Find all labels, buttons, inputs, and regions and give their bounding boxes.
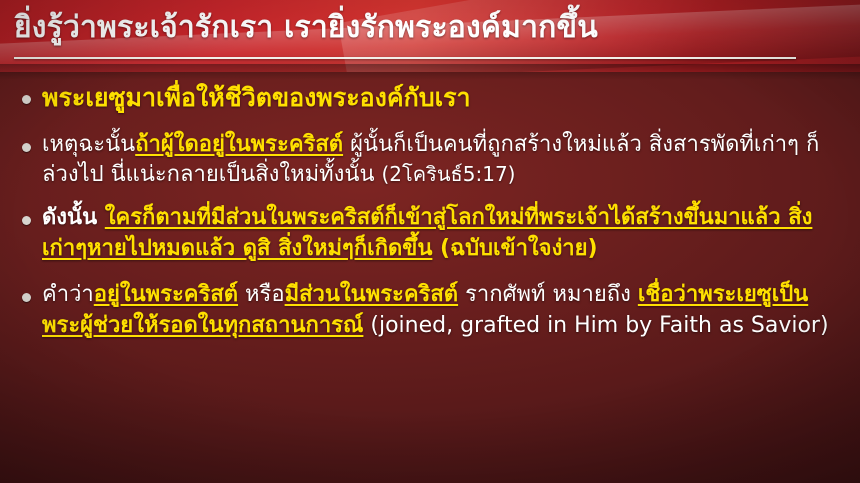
list-item: เหตุฉะนั้นถ้าผู้ใดอยู่ในพระคริสต์ ผู้นั้… (8, 130, 846, 191)
bullet-dot-icon (22, 216, 31, 225)
bullet-4-seg-5: รากศัพท์ หมายถึง (458, 282, 638, 307)
bullet-1-text: พระเยซูมาเพื่อให้ชีวิตของพระองค์กับเรา (42, 83, 471, 112)
page-title: ยิ่งรู้ว่าพระเจ้ารักเรา เรายิ่งรักพระองค… (14, 10, 846, 47)
bullet-4-seg-4-highlight: มีส่วนในพระคริสต์ (285, 282, 459, 307)
bullet-4-seg-7-english-gloss: (joined, grafted in Him by Faith as Savi… (363, 313, 828, 338)
bullet-2-seg-4-reference: (2โครินธ์5:17) (381, 162, 515, 186)
bullet-2-seg-2-highlight: ถ้าผู้ใดอยู่ในพระคริสต์ (135, 132, 343, 157)
list-item: ดังนั้น ใครก็ตามที่มีส่วนในพระคริสต์ก็เข… (8, 203, 846, 264)
bullet-4-seg-2-highlight: อยู่ในพระคริสต์ (94, 282, 238, 307)
bullet-dot-icon (22, 293, 31, 302)
bullet-list: พระเยซูมาเพื่อให้ชีวิตของพระองค์กับเรา เ… (0, 78, 860, 483)
bullet-dot-icon (22, 143, 31, 152)
bullet-4-seg-3: หรือ (238, 282, 285, 307)
bullet-4-seg-1: คำว่า (42, 282, 94, 307)
title-underline-rule (14, 57, 796, 59)
bullet-3-seg-2-highlight: ใครก็ตามที่มีส่วนในพระคริสต์ก็เข้าสู่โลก… (42, 205, 812, 260)
slide-canvas: ยิ่งรู้ว่าพระเจ้ารักเรา เรายิ่งรักพระองค… (0, 0, 860, 483)
bullet-3-seg-3-reference: (ฉบับเข้าใจง่าย) (432, 236, 597, 261)
bullet-2-seg-1: เหตุฉะนั้น (42, 132, 135, 157)
list-item: พระเยซูมาเพื่อให้ชีวิตของพระองค์กับเรา (8, 82, 846, 114)
bullet-dot-icon (22, 95, 31, 104)
list-item: คำว่าอยู่ในพระคริสต์ หรือมีส่วนในพระคริส… (8, 280, 846, 342)
bullet-3-seg-1: ดังนั้น (42, 205, 105, 230)
